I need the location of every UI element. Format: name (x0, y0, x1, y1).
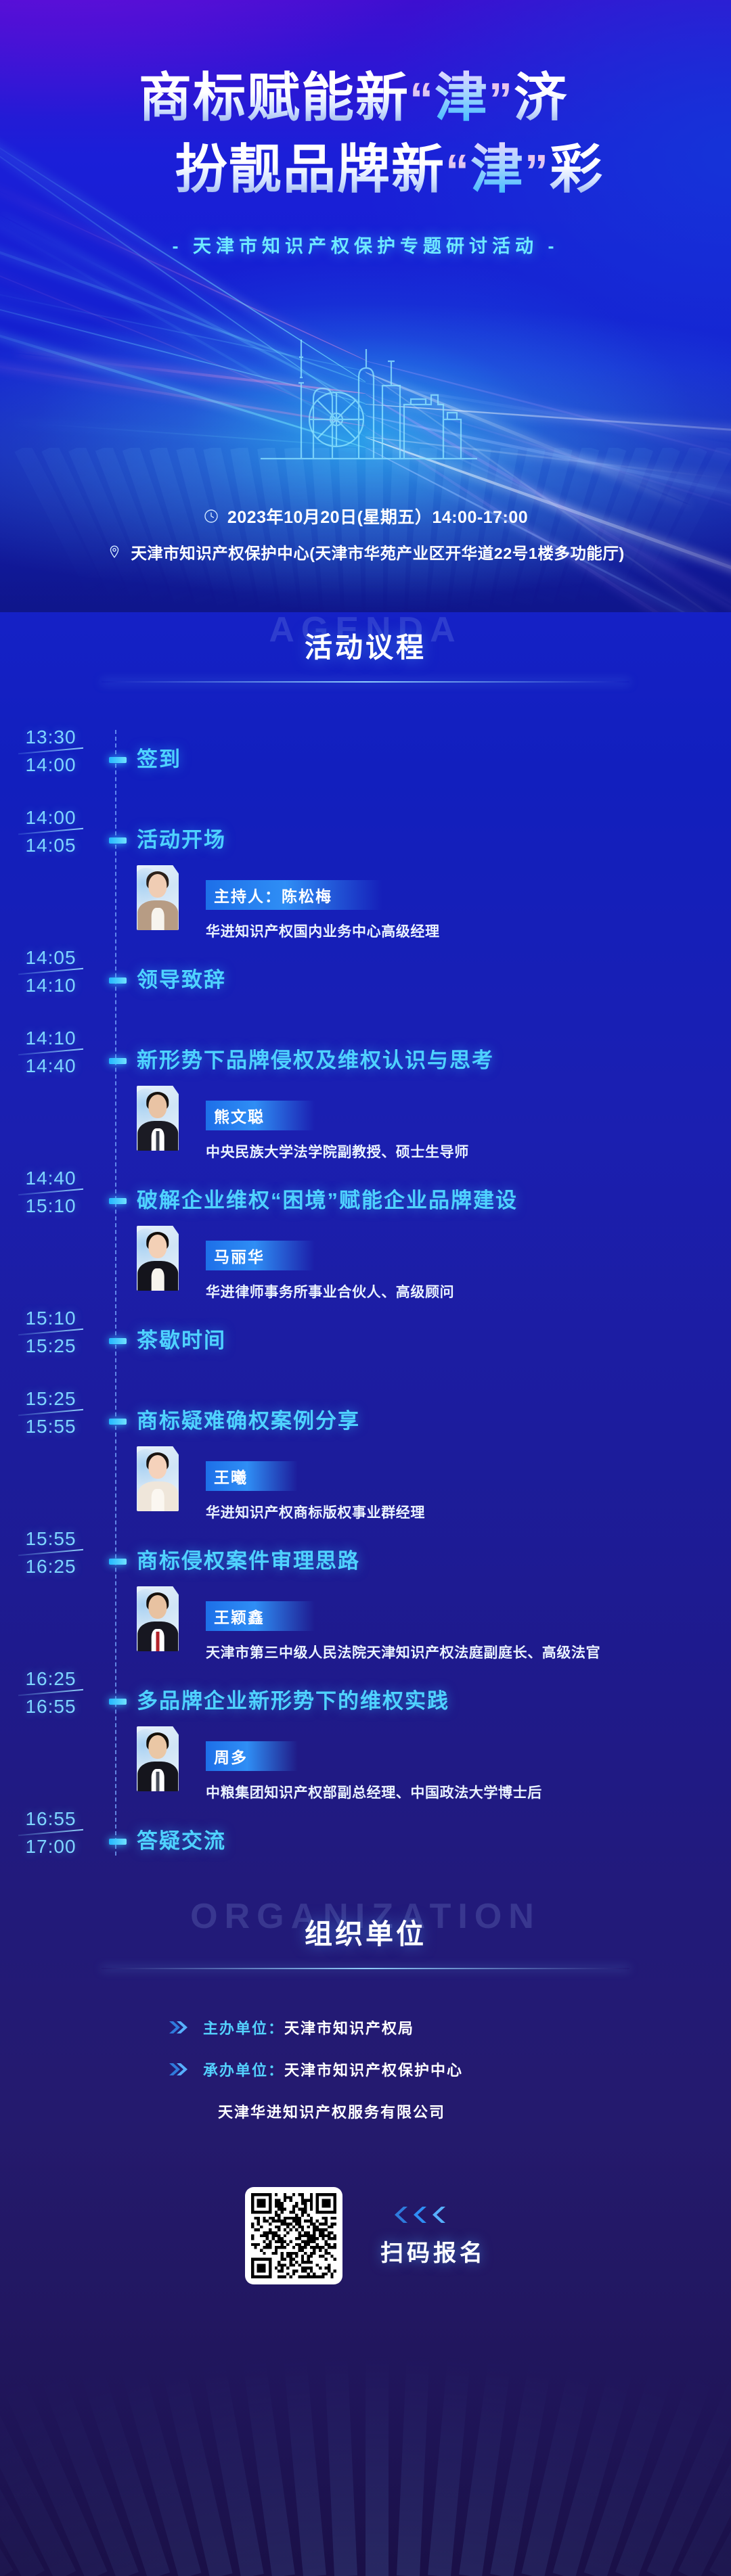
agenda-item-title: 茶歇时间 (137, 1306, 704, 1351)
timeline-marker-column (102, 1166, 137, 1302)
speaker-photo (137, 1726, 179, 1791)
qr-code-image (251, 2193, 336, 2278)
timeline-dot (109, 837, 127, 844)
agenda-end-time: 14:40 (0, 1055, 102, 1077)
timeline-dot (109, 1559, 127, 1565)
agenda-item-body: 领导致辞 (137, 945, 731, 1021)
speaker-info: 王颖鑫天津市第三中级人民法院天津知识产权法庭副庭长、高级法官 (206, 1586, 600, 1662)
registration-footer: 扫码报名 (0, 2187, 731, 2284)
speaker-info: 马丽华华进律师事务所事业合伙人、高级顾问 (206, 1226, 454, 1302)
organization-label: 主办单位： (203, 2017, 284, 2038)
double-chevron-right-icon (168, 2020, 191, 2035)
photo-face (148, 1455, 167, 1479)
timeline-dot (109, 757, 127, 763)
agenda-end-time: 16:55 (0, 1695, 102, 1718)
agenda-start-time: 14:05 (0, 946, 102, 969)
speaker-role: 华进知识产权国内业务中心高级经理 (206, 921, 440, 941)
title-highlight-1: 津 (435, 68, 489, 127)
qr-code[interactable] (245, 2187, 342, 2284)
agenda-start-time: 14:40 (0, 1167, 102, 1189)
agenda-time-range: 13:3014:00 (0, 724, 102, 801)
title-highlight-2: 津 (470, 139, 525, 199)
speaker-block: 王颖鑫天津市第三中级人民法院天津知识产权法庭副庭长、高级法官 (137, 1586, 704, 1662)
timeline-dot (109, 1419, 127, 1425)
timeline-marker-column (102, 1526, 137, 1662)
agenda-time-range: 15:1015:25 (0, 1306, 102, 1382)
agenda-start-time: 16:55 (0, 1808, 102, 1830)
organization-extra-value: 天津华进知识产权服务有限公司 (218, 2100, 445, 2122)
agenda-end-time: 14:05 (0, 834, 102, 856)
agenda-time-range: 15:2515:55 (0, 1386, 102, 1522)
photo-face (148, 1235, 167, 1258)
agenda-item: 15:1015:25茶歇时间 (0, 1306, 731, 1382)
agenda-item-body: 答疑交流 (137, 1806, 731, 1883)
agenda-time-range: 16:5517:00 (0, 1806, 102, 1883)
timeline-marker-column (102, 1806, 137, 1883)
speaker-block: 主持人：陈松梅华进知识产权国内业务中心高级经理 (137, 865, 704, 941)
agenda-item-title: 商标侵权案件审理思路 (137, 1526, 704, 1571)
agenda-item-body: 多品牌企业新形势下的维权实践周多中粮集团知识产权部副总经理、中国政法大学博士后 (137, 1666, 731, 1802)
agenda-end-time: 15:10 (0, 1195, 102, 1217)
title-line-1: 商标赋能新“津”济 (0, 66, 731, 129)
speaker-photo (137, 1446, 179, 1511)
timeline-dot (109, 1198, 127, 1204)
organization-divider (102, 1968, 629, 1969)
agenda-item-title: 新形势下品牌侵权及维权认识与思考 (137, 1026, 704, 1071)
event-meta: 2023年10月20日(星期五）14:00-17:00 天津市知识产权保护中心(… (0, 504, 731, 576)
organization-row: 承办单位：天津市知识产权保护中心 (168, 2058, 731, 2080)
speaker-block: 周多中粮集团知识产权部副总经理、中国政法大学博士后 (137, 1726, 704, 1802)
photo-tie (156, 1131, 160, 1151)
timeline-dot (109, 1058, 127, 1064)
speaker-name-badge: 熊文聪 (206, 1101, 315, 1130)
speaker-photo (137, 1086, 179, 1151)
speaker-name-badge: 主持人：陈松梅 (206, 880, 382, 910)
agenda-start-time: 14:00 (0, 806, 102, 829)
agenda-item-body: 商标疑难确权案例分享王曦华进知识产权商标版权事业群经理 (137, 1386, 731, 1522)
photo-face (148, 1095, 167, 1118)
timeline-dot (109, 977, 127, 984)
location-pin-icon (106, 544, 123, 560)
agenda-time-range: 14:1014:40 (0, 1026, 102, 1161)
agenda-start-time: 15:25 (0, 1387, 102, 1410)
agenda-title: 活动议程 (0, 624, 731, 665)
agenda-start-time: 13:30 (0, 726, 102, 748)
agenda-end-time: 14:10 (0, 974, 102, 996)
photo-face (148, 874, 167, 898)
timeline-dot (109, 1338, 127, 1344)
agenda-time-range: 16:2516:55 (0, 1666, 102, 1802)
agenda-item: 14:1014:40新形势下品牌侵权及维权认识与思考熊文聪中央民族大学法学院副教… (0, 1026, 731, 1161)
hero-banner: 商标赋能新“津”济 扮靓品牌新“津”彩 - 天津市知识产权保护专题研讨活动 - … (0, 0, 731, 612)
speaker-role: 中粮集团知识产权部副总经理、中国政法大学博士后 (206, 1782, 542, 1802)
agenda-list: 13:3014:00签到14:0014:05活动开场主持人：陈松梅华进知识产权国… (0, 683, 731, 1883)
speaker-name-badge: 周多 (206, 1741, 298, 1771)
timeline-marker-column (102, 945, 137, 1021)
organization-value: 天津市知识产权局 (284, 2017, 414, 2038)
photo-shirt (152, 908, 164, 930)
agenda-end-time: 14:00 (0, 754, 102, 776)
speaker-photo (137, 865, 179, 930)
organization-label: 承办单位： (203, 2058, 284, 2080)
agenda-item-title: 活动开场 (137, 805, 704, 850)
agenda-start-time: 15:10 (0, 1307, 102, 1329)
speaker-info: 周多中粮集团知识产权部副总经理、中国政法大学博士后 (206, 1726, 542, 1802)
agenda-start-time: 14:10 (0, 1027, 102, 1049)
organization-row: 主办单位：天津市知识产权局 (168, 2017, 731, 2038)
triple-chevron-left-icon (390, 2205, 445, 2225)
title-quote-open-2: “ (445, 145, 470, 198)
photo-shirt (152, 1268, 164, 1291)
agenda-time-range: 14:0514:10 (0, 945, 102, 1021)
title-line-1-a: 商标赋能新 (139, 68, 409, 127)
timeline-dot (109, 1699, 127, 1705)
title-quote-open-1: “ (409, 73, 435, 126)
scan-prompt: 扫码报名 (380, 2205, 486, 2268)
double-chevron-right-icon (168, 2062, 191, 2077)
speaker-name-badge: 王颖鑫 (206, 1601, 315, 1631)
timeline-marker-column (102, 1306, 137, 1382)
photo-tie (156, 1772, 160, 1791)
agenda-item-body: 新形势下品牌侵权及维权认识与思考熊文聪中央民族大学法学院副教授、硕士生导师 (137, 1026, 731, 1161)
event-datetime-row: 2023年10月20日(星期五）14:00-17:00 (0, 504, 731, 528)
agenda-item-body: 签到 (137, 724, 731, 801)
organization-title: 组织单位 (0, 1911, 731, 1952)
agenda-end-time: 15:55 (0, 1415, 102, 1437)
agenda-item-title: 破解企业维权“困境”赋能企业品牌建设 (137, 1166, 704, 1211)
speaker-info: 熊文聪中央民族大学法学院副教授、硕士生导师 (206, 1086, 469, 1161)
agenda-item: 14:4015:10破解企业维权“困境”赋能企业品牌建设马丽华华进律师事务所事业… (0, 1166, 731, 1302)
speaker-name-badge: 王曦 (206, 1461, 298, 1491)
agenda-item-body: 茶歇时间 (137, 1306, 731, 1382)
agenda-end-time: 15:25 (0, 1335, 102, 1357)
agenda-item-title: 商标疑难确权案例分享 (137, 1386, 704, 1431)
title-line-1-b: 济 (514, 68, 568, 127)
agenda-time-range: 14:0014:05 (0, 805, 102, 941)
agenda-item-title: 领导致辞 (137, 945, 704, 990)
event-location-row: 天津市知识产权保护中心(天津市华苑产业区开华道22号1楼多功能厅) (0, 540, 731, 563)
organization-rows: 主办单位：天津市知识产权局承办单位：天津市知识产权保护中心天津华进知识产权服务有… (0, 2017, 731, 2122)
tianjin-skyline-icon (220, 318, 511, 460)
agenda-item-body: 破解企业维权“困境”赋能企业品牌建设马丽华华进律师事务所事业合伙人、高级顾问 (137, 1166, 731, 1302)
agenda-time-range: 15:5516:25 (0, 1526, 102, 1662)
speaker-info: 王曦华进知识产权商标版权事业群经理 (206, 1446, 425, 1522)
photo-face (148, 1595, 167, 1619)
speaker-photo (137, 1586, 179, 1651)
photo-face (148, 1735, 167, 1759)
speaker-photo (137, 1226, 179, 1291)
organization-row-extra: 天津华进知识产权服务有限公司 (168, 2100, 731, 2122)
timeline-marker-column (102, 1026, 137, 1161)
footer-perspective-grid (0, 2353, 731, 2576)
agenda-item: 13:3014:00签到 (0, 724, 731, 801)
speaker-block: 王曦华进知识产权商标版权事业群经理 (137, 1446, 704, 1522)
photo-tie (156, 1632, 160, 1651)
event-location: 天津市知识产权保护中心(天津市华苑产业区开华道22号1楼多功能厅) (131, 540, 624, 563)
agenda-item-body: 活动开场主持人：陈松梅华进知识产权国内业务中心高级经理 (137, 805, 731, 941)
timeline-marker-column (102, 805, 137, 941)
organization-section: ORGANIZATION 组织单位 主办单位：天津市知识产权局承办单位：天津市知… (0, 1887, 731, 2122)
timeline-marker-column (102, 1666, 137, 1802)
agenda-item: 16:2516:55多品牌企业新形势下的维权实践周多中粮集团知识产权部副总经理、… (0, 1666, 731, 1802)
title-line-2-b: 彩 (550, 139, 604, 199)
agenda-item-title: 答疑交流 (137, 1806, 704, 1851)
agenda-item-title: 多品牌企业新形势下的维权实践 (137, 1666, 704, 1711)
title-line-2: 扮靓品牌新“津”彩 (0, 138, 731, 200)
timeline-marker-column (102, 1386, 137, 1522)
agenda-end-time: 16:25 (0, 1555, 102, 1578)
speaker-role: 中央民族大学法学院副教授、硕士生导师 (206, 1141, 469, 1161)
agenda-item: 14:0514:10领导致辞 (0, 945, 731, 1021)
organization-value: 天津市知识产权保护中心 (284, 2058, 463, 2080)
title-quote-close-1: ” (489, 73, 514, 126)
speaker-role: 华进知识产权商标版权事业群经理 (206, 1502, 425, 1522)
event-datetime: 2023年10月20日(星期五）14:00-17:00 (227, 504, 528, 528)
agenda-item-title: 签到 (137, 724, 704, 770)
agenda-item-body: 商标侵权案件审理思路王颖鑫天津市第三中级人民法院天津知识产权法庭副庭长、高级法官 (137, 1526, 731, 1662)
scan-label: 扫码报名 (380, 2234, 486, 2268)
event-poster: 商标赋能新“津”济 扮靓品牌新“津”彩 - 天津市知识产权保护专题研讨活动 - … (0, 0, 731, 2576)
speaker-info: 主持人：陈松梅华进知识产权国内业务中心高级经理 (206, 865, 440, 941)
timeline-dot (109, 1839, 127, 1845)
agenda-end-time: 17:00 (0, 1835, 102, 1858)
photo-shirt (152, 1489, 164, 1511)
clock-icon (203, 508, 219, 524)
title-line-2-a: 扮靓品牌新 (175, 139, 445, 199)
agenda-item: 16:5517:00答疑交流 (0, 1806, 731, 1883)
agenda-start-time: 16:25 (0, 1667, 102, 1690)
speaker-name-badge: 马丽华 (206, 1241, 315, 1270)
agenda-time-range: 14:4015:10 (0, 1166, 102, 1302)
title-quote-close-2: ” (525, 145, 550, 198)
hero-title: 商标赋能新“津”济 扮靓品牌新“津”彩 - 天津市知识产权保护专题研讨活动 - (0, 0, 731, 258)
agenda-item: 15:5516:25商标侵权案件审理思路王颖鑫天津市第三中级人民法院天津知识产权… (0, 1526, 731, 1662)
organization-section-header: ORGANIZATION 组织单位 (0, 1899, 731, 1969)
speaker-role: 天津市第三中级人民法院天津知识产权法庭副庭长、高级法官 (206, 1642, 600, 1662)
speaker-role: 华进律师事务所事业合伙人、高级顾问 (206, 1281, 454, 1302)
agenda-item: 14:0014:05活动开场主持人：陈松梅华进知识产权国内业务中心高级经理 (0, 805, 731, 941)
agenda-start-time: 15:55 (0, 1527, 102, 1550)
speaker-block: 马丽华华进律师事务所事业合伙人、高级顾问 (137, 1226, 704, 1302)
agenda-item: 15:2515:55商标疑难确权案例分享王曦华进知识产权商标版权事业群经理 (0, 1386, 731, 1522)
speaker-block: 熊文聪中央民族大学法学院副教授、硕士生导师 (137, 1086, 704, 1161)
hero-subtitle: - 天津市知识产权保护专题研讨活动 - (0, 231, 731, 258)
timeline-marker-column (102, 724, 137, 801)
agenda-section-header: AGENDA 活动议程 (0, 612, 731, 683)
